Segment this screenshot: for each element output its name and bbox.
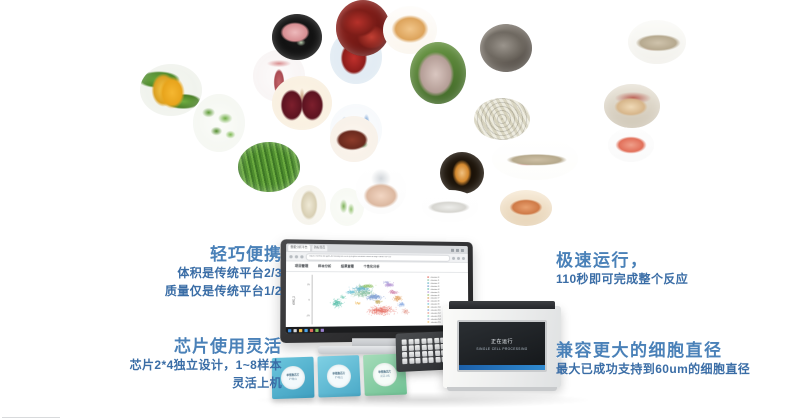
sample-well [422, 357, 428, 363]
sample-well [434, 344, 440, 350]
chip-label-disc: 单细胞芯片 2*4独立 [327, 364, 352, 388]
menu-icon[interactable] [462, 256, 465, 259]
sample-well [428, 344, 434, 350]
instrument-screen-title: 正在运行 [491, 340, 513, 345]
flower-sprig-sample: 花枝 [113, 120, 163, 166]
star-icon[interactable] [452, 256, 455, 259]
sample-well [402, 358, 408, 364]
tsne-scatter-svg: -25025tSNE_2cluster 0cluster 1cluster 2c… [286, 272, 469, 329]
sample-well [414, 339, 420, 345]
sample-well [428, 357, 434, 363]
sample-well [402, 339, 408, 345]
sample-well [409, 358, 415, 364]
sample-well [422, 351, 428, 357]
eye-organ: 眼球 [578, 168, 626, 210]
sample-well [421, 345, 427, 351]
nav-item-projects[interactable]: 项目管理 [295, 265, 308, 268]
red-meat-sample: 肌肉组织 [336, 0, 390, 56]
svg-text:cluster 15: cluster 15 [431, 321, 442, 324]
svg-text:-25: -25 [306, 315, 311, 317]
cell-chart-icon: 细胞图示 [552, 100, 576, 124]
sample-well [408, 345, 414, 351]
sample-well [427, 338, 433, 344]
cluster-15 [355, 301, 360, 305]
feature-flexible-chip: 芯片使用灵活 芯片2*4独立设计，1~8样本 灵活上机 [0, 336, 282, 392]
browser-tab-label: 数据分析平台 [290, 246, 307, 249]
svg-text:cluster 12: cluster 12 [431, 312, 442, 315]
browser-tab-2[interactable]: 新标签页 [312, 245, 327, 251]
svg-text:cluster 11: cluster 11 [431, 309, 442, 312]
close-icon[interactable] [461, 248, 464, 251]
nav-item-custom[interactable]: 个性化分析 [363, 265, 379, 268]
back-arrow-icon[interactable] [289, 255, 292, 258]
chip-subtitle: 2*4独立 [289, 378, 297, 381]
tsne-plot: -25025tSNE_2cluster 0cluster 1cluster 2c… [286, 272, 469, 329]
svg-text:cluster 9: cluster 9 [431, 303, 441, 306]
svg-text:cluster 7: cluster 7 [431, 297, 441, 300]
liver-organ: 肝脏 [330, 116, 378, 162]
rice-ear-sample: 稻穗 [292, 185, 326, 225]
feature-heading: 轻巧便携 [0, 244, 282, 265]
feature-subline: 体积是传统平台2/3 [0, 265, 282, 282]
instrument-screen[interactable]: 正在运行 SINGLE CELL PROCESSING [457, 320, 547, 372]
cluster-9 [346, 290, 356, 294]
instrument-screen-subtitle: SINGLE CELL PROCESSING [476, 348, 527, 351]
start-icon[interactable] [288, 329, 291, 332]
feature-subline: 110秒即可完成整个反应 [556, 271, 800, 288]
brain-organ: 脑组织 [272, 14, 322, 60]
progress-bar [459, 365, 545, 370]
cluster-13 [340, 295, 346, 299]
fish-anatomy-diagram: 鱼类解剖图 [492, 138, 578, 180]
grass-turf-sample: 草坪 [238, 142, 300, 192]
cluster-8 [388, 290, 399, 295]
svg-text:cluster 6: cluster 6 [431, 294, 441, 297]
browser-tab-active[interactable]: 数据分析平台 [288, 245, 309, 252]
feature-subline: 最大已成功支持到60um的细胞直径 [556, 361, 800, 378]
feature-subline: 芯片2*4独立设计，1~8样本 [0, 357, 282, 374]
sample-well [421, 338, 427, 344]
window-controls [451, 248, 466, 251]
corn-section-sample: 玉米切片 [516, 66, 558, 106]
lung-organ: 肺 [272, 76, 332, 130]
feature-large-diameter: 兼容更大的细胞直径 最大已成功支持到60um的细胞直径 [556, 340, 800, 379]
sample-well [402, 352, 408, 358]
cluster-4 [330, 298, 345, 308]
feature-heading: 芯片使用灵活 [0, 336, 282, 357]
svg-text:cluster 13: cluster 13 [431, 315, 442, 318]
svg-text:cluster 0: cluster 0 [431, 276, 441, 279]
sample-well [415, 358, 421, 364]
sample-well [435, 357, 441, 363]
cluster-11 [397, 302, 404, 307]
nav-item-results[interactable]: 结果查看 [341, 265, 354, 268]
desk-shadow [258, 392, 588, 408]
chip-label-disc: 单细胞芯片 灵活上机 [372, 363, 397, 387]
sample-well [408, 339, 414, 345]
oyster-seafood: 牡蛎 [604, 84, 660, 128]
honeycomb-structure: 蜂巢结构 [474, 98, 530, 140]
minimize-icon[interactable] [451, 248, 454, 251]
sample-well [415, 351, 421, 357]
svg-text:cluster 14: cluster 14 [431, 318, 442, 321]
instrument: 正在运行 SINGLE CELL PROCESSING [443, 306, 561, 388]
cluster-10 [374, 300, 382, 304]
svg-text:tSNE_2: tSNE_2 [291, 296, 296, 305]
svg-text:cluster 3: cluster 3 [431, 285, 441, 288]
human-torso-diagram: 人体躯干图 [356, 166, 406, 214]
sample-gallery: 玉米草本植物花枝番茄植株草坪稻穗幼苗子宫脑组织肺心脏心血管肝脏肌肉组织肌肉解剖图… [0, 0, 800, 240]
chip-subtitle: 灵活上机 [380, 375, 390, 378]
mouse-rodent-animal: 小鼠 [480, 24, 532, 72]
search-icon[interactable] [293, 329, 296, 332]
sample-well [415, 345, 421, 351]
feature-subline: 灵活上机 [0, 375, 282, 392]
feature-fast-run: 极速运行， 110秒即可完成整个反应 [556, 250, 800, 289]
sample-well [409, 352, 415, 358]
browser-tab-label: 新标签页 [314, 247, 325, 250]
herb-leaves-sample: 草本植物 [193, 94, 245, 152]
sperm-cell-icon: 精子细胞 [396, 140, 422, 166]
monitor-screen: 数据分析平台 新标签页 https://www.singlecell-analy… [286, 244, 469, 334]
embryo-sample: 胚胎 [440, 152, 484, 194]
svg-text:25: 25 [307, 284, 311, 286]
address-input[interactable]: https://www.singlecell-analysis.com/proj… [306, 253, 450, 262]
svg-text:cluster 4: cluster 4 [431, 288, 441, 291]
extensions-icon[interactable] [457, 256, 460, 259]
svg-text:cluster 1: cluster 1 [431, 279, 441, 282]
address-text: https://www.singlecell-analysis.com/proj… [309, 255, 391, 258]
folder-icon[interactable] [299, 328, 302, 331]
chip-label-disc: 单细胞芯片 2*4独立 [281, 366, 305, 390]
fish-specimen: 鱼 [628, 20, 686, 64]
svg-text:0: 0 [308, 300, 310, 302]
forward-arrow-icon[interactable] [295, 255, 298, 258]
instrument-top-bar [449, 301, 555, 309]
sample-well [435, 350, 441, 356]
cluster-5 [385, 282, 394, 287]
maximize-icon[interactable] [456, 248, 459, 251]
sample-well [402, 346, 408, 352]
instrument-foot [447, 387, 557, 391]
sample-well [428, 351, 434, 357]
cluster-7 [392, 296, 403, 302]
feature-heading: 兼容更大的细胞直径 [556, 340, 800, 361]
feature-subline: 质量仅是传统平台1/2 [0, 283, 282, 300]
pig-animal: 猪 [410, 42, 466, 104]
cluster-0 [367, 305, 398, 316]
feature-heading: 极速运行， [556, 250, 800, 271]
browser-icon[interactable] [304, 328, 307, 331]
feature-portable: 轻巧便携 体积是传统平台2/3 质量仅是传统平台1/2 [0, 244, 282, 300]
corn-cob-sample: 玉米 [140, 64, 202, 116]
svg-text:cluster 5: cluster 5 [431, 291, 441, 294]
infographic-canvas: 玉米草本植物花枝番茄植株草坪稻穗幼苗子宫脑组织肺心脏心血管肝脏肌肉组织肌肉解剖图… [0, 0, 800, 418]
tomato-plant-sample: 番茄植株 [164, 150, 220, 200]
nav-item-samples[interactable]: 样本分析 [318, 265, 331, 268]
sample-well [434, 338, 440, 344]
svg-text:cluster 2: cluster 2 [431, 282, 441, 285]
cluster-3 [366, 294, 386, 301]
chip-subtitle: 2*4独立 [335, 377, 343, 380]
rat-animal: 大鼠 [422, 190, 478, 222]
prawn-seafood: 对虾 [608, 128, 654, 162]
mail-icon[interactable] [310, 328, 313, 331]
shrimp-seafood: 虾 [500, 190, 552, 226]
svg-text:cluster 10: cluster 10 [431, 306, 442, 309]
cluster-12 [402, 308, 410, 314]
svg-text:cluster 8: cluster 8 [431, 300, 441, 303]
store-icon[interactable] [315, 328, 318, 331]
reload-icon[interactable] [300, 255, 303, 258]
settings-icon[interactable] [321, 328, 324, 331]
